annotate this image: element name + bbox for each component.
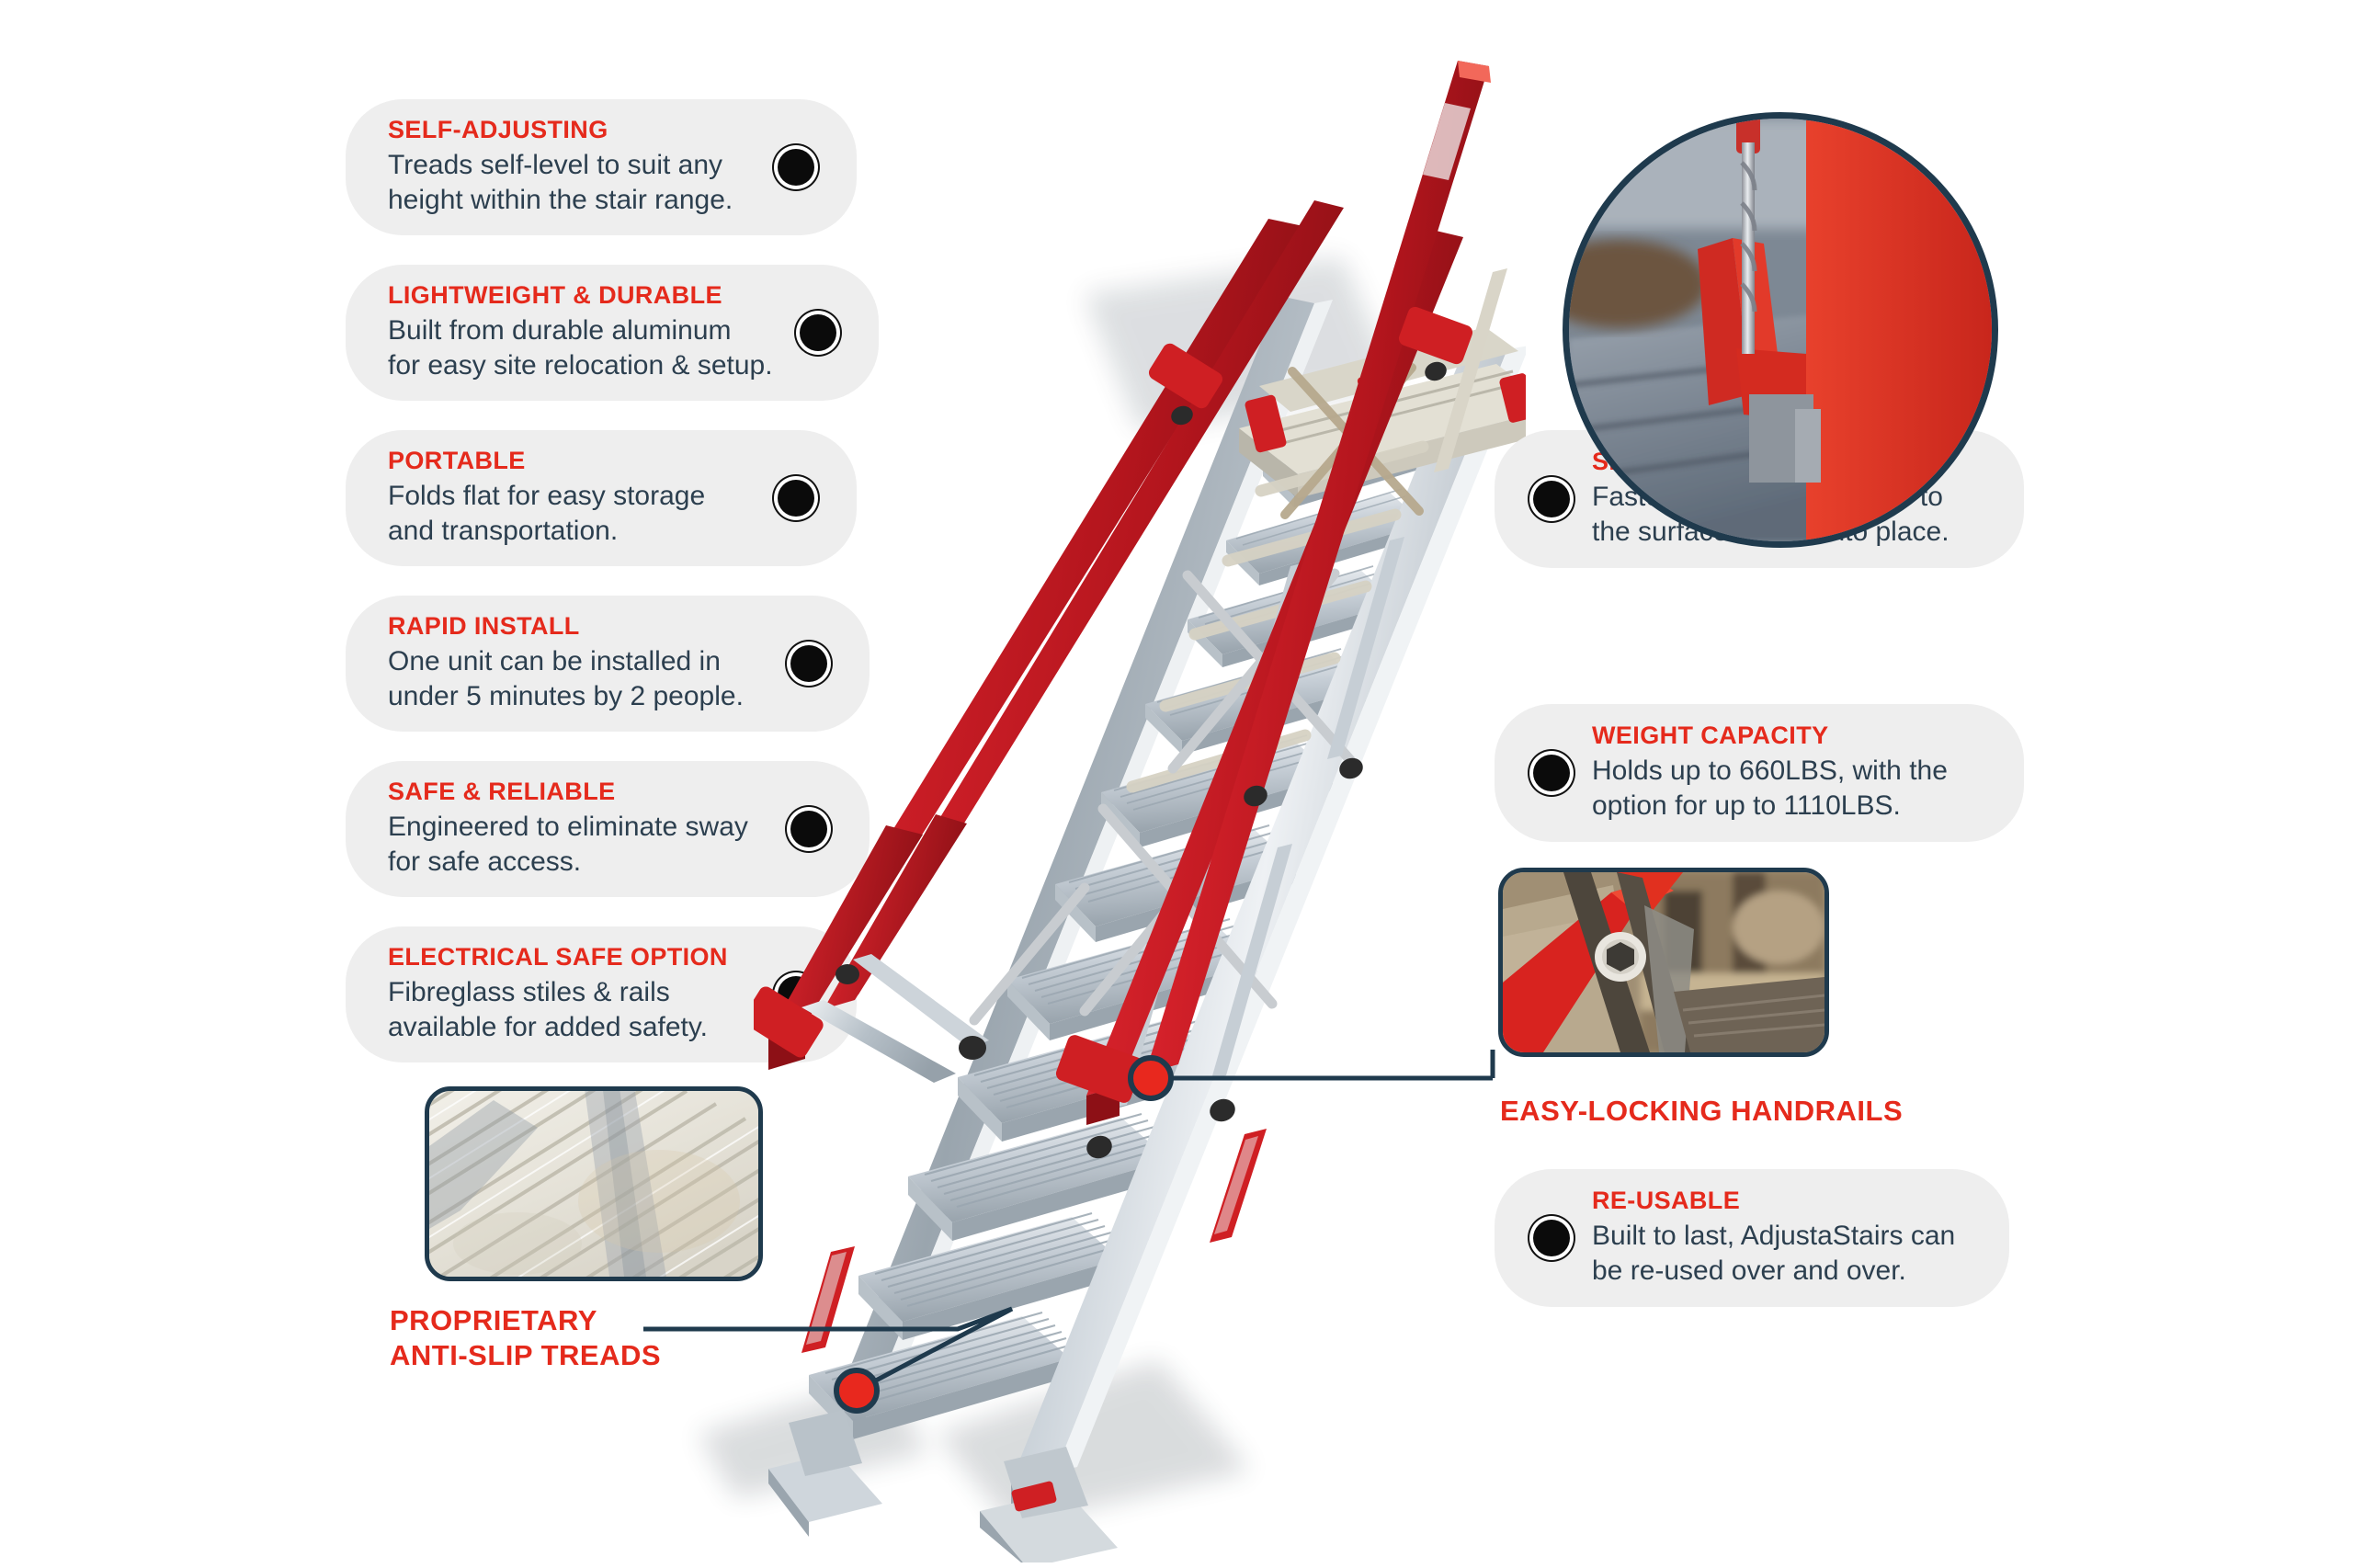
feature-heading: ELECTRICAL SAFE OPTION bbox=[388, 943, 759, 971]
locking-knobs bbox=[1084, 358, 1449, 1162]
feature-heading: RE-USABLE bbox=[1592, 1187, 1972, 1215]
feature-heading: RAPID INSTALL bbox=[388, 612, 772, 641]
feature-body: Folds flat for easy storage and transpor… bbox=[388, 479, 759, 550]
feature-body: Built to last, AdjustaStairs can be re-u… bbox=[1592, 1219, 1972, 1290]
feature-body: Holds up to 660LBS, with the option for … bbox=[1592, 754, 1987, 824]
feature-body: Engineered to eliminate sway for safe ac… bbox=[388, 810, 772, 881]
bullet-icon bbox=[1533, 755, 1570, 791]
feature-body: One unit can be installed in under 5 min… bbox=[388, 644, 772, 715]
stringer-left bbox=[824, 296, 1314, 1434]
cross-braces bbox=[974, 574, 1351, 1020]
feature-heading: PORTABLE bbox=[388, 447, 759, 475]
photo-callout-anti-slip-tread-detail[interactable] bbox=[425, 1086, 763, 1281]
bullet-icon bbox=[778, 149, 814, 186]
handrail-pivot-image bbox=[1503, 872, 1824, 1052]
photo-callout-handrail-pivot-detail[interactable] bbox=[1498, 868, 1829, 1057]
feature-body: Built from durable aluminum for easy sit… bbox=[388, 313, 781, 384]
bullet-icon bbox=[1533, 481, 1570, 517]
feature-body: Treads self-level to suit any height wit… bbox=[388, 148, 759, 219]
feature-body: Fibreglass stiles & rails available for … bbox=[388, 975, 759, 1046]
caption-easy-locking-handrails: EASY-LOCKING HANDRAILS bbox=[1500, 1094, 1903, 1129]
bullet-icon bbox=[1533, 1220, 1570, 1256]
feature-card-self-adjusting[interactable]: SELF-ADJUSTING Treads self-level to suit… bbox=[346, 99, 857, 235]
feature-card-weight-capacity[interactable]: WEIGHT CAPACITY Holds up to 660LBS, with… bbox=[1495, 704, 2024, 842]
feature-heading: SAFE & RELIABLE bbox=[388, 778, 772, 806]
infographic-canvas: SELF-ADJUSTING Treads self-level to suit… bbox=[0, 0, 2353, 1568]
leader-line-anti-slip bbox=[643, 1309, 1012, 1391]
photo-callout-fastening-detail[interactable] bbox=[1563, 112, 1998, 548]
feature-card-safe-reliable[interactable]: SAFE & RELIABLE Engineered to eliminate … bbox=[346, 761, 870, 897]
feature-heading: SELF-ADJUSTING bbox=[388, 116, 759, 144]
anti-slip-tread-image bbox=[429, 1091, 758, 1277]
handrails bbox=[770, 61, 1491, 1125]
bullet-icon bbox=[778, 480, 814, 517]
bullet-icon bbox=[778, 976, 814, 1013]
stringer-right bbox=[1011, 342, 1507, 1482]
ladder-rungs bbox=[1132, 447, 1423, 787]
feature-heading: LIGHTWEIGHT & DURABLE bbox=[388, 281, 781, 310]
feature-card-lightweight-durable[interactable]: LIGHTWEIGHT & DURABLE Built from durable… bbox=[346, 265, 879, 401]
feature-heading: WEIGHT CAPACITY bbox=[1592, 722, 1987, 750]
bullet-icon bbox=[800, 314, 836, 351]
feature-card-rapid-install[interactable]: RAPID INSTALL One unit can be installed … bbox=[346, 596, 870, 732]
bullet-icon bbox=[790, 645, 827, 682]
feature-card-re-usable[interactable]: RE-USABLE Built to last, AdjustaStairs c… bbox=[1495, 1169, 2009, 1307]
fastening-detail-image bbox=[1569, 119, 1992, 541]
callout-dot-handrails bbox=[1131, 1058, 1171, 1098]
handrail-posts bbox=[1110, 268, 1507, 1108]
bullet-icon bbox=[790, 811, 827, 847]
feature-card-electrical-safe-option[interactable]: ELECTRICAL SAFE OPTION Fibreglass stiles… bbox=[346, 926, 857, 1062]
base-feet bbox=[768, 1410, 1118, 1568]
caption-proprietary-anti-slip-treads: PROPRIETARY ANTI-SLIP TREADS bbox=[390, 1303, 661, 1373]
feature-card-portable[interactable]: PORTABLE Folds flat for easy storage and… bbox=[346, 430, 857, 566]
callout-dot-anti-slip bbox=[836, 1370, 877, 1411]
stair-treads bbox=[809, 419, 1452, 1439]
